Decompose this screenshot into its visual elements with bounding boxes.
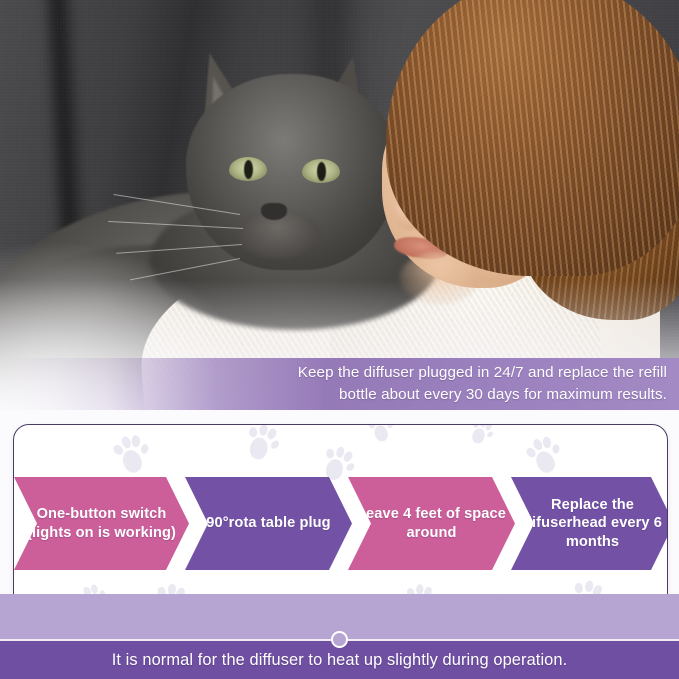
feature-arrow-3-label: Leave 4 feet of space around xyxy=(356,505,507,541)
feature-arrow-3[interactable]: Leave 4 feet of space around xyxy=(348,477,515,570)
product-infographic: Keep the diffuser plugged in 24/7 and re… xyxy=(0,0,679,679)
feature-arrow-4-label: Replace the difuserhead every 6 months xyxy=(519,496,666,551)
caption-text: Keep the diffuser plugged in 24/7 and re… xyxy=(298,362,679,405)
caption-line-1: Keep the diffuser plugged in 24/7 and re… xyxy=(298,362,667,384)
feature-arrow-row: One-button switch (lights on is working)… xyxy=(14,477,667,570)
cat-nose xyxy=(261,203,287,220)
caption-line-2: bottle about every 30 days for maximum r… xyxy=(298,384,667,406)
cat-pupil-left xyxy=(244,160,253,179)
feature-card: One-button switch (lights on is working)… xyxy=(13,424,668,616)
hero-photo xyxy=(0,0,679,410)
footer-text: It is normal for the diffuser to heat up… xyxy=(0,641,679,679)
feature-arrow-1-label: One-button switch (lights on is working) xyxy=(22,505,181,541)
feature-arrow-4[interactable]: Replace the difuserhead every 6 months xyxy=(511,477,668,570)
feature-arrow-1[interactable]: One-button switch (lights on is working) xyxy=(14,477,189,570)
caption-overlay-band: Keep the diffuser plugged in 24/7 and re… xyxy=(0,358,679,410)
cat-pupil-right xyxy=(317,162,326,181)
child-hair-strands xyxy=(386,0,679,276)
feature-arrow-2-label: 90°rota table plug xyxy=(206,514,330,532)
feature-arrow-2[interactable]: 90°rota table plug xyxy=(185,477,352,570)
